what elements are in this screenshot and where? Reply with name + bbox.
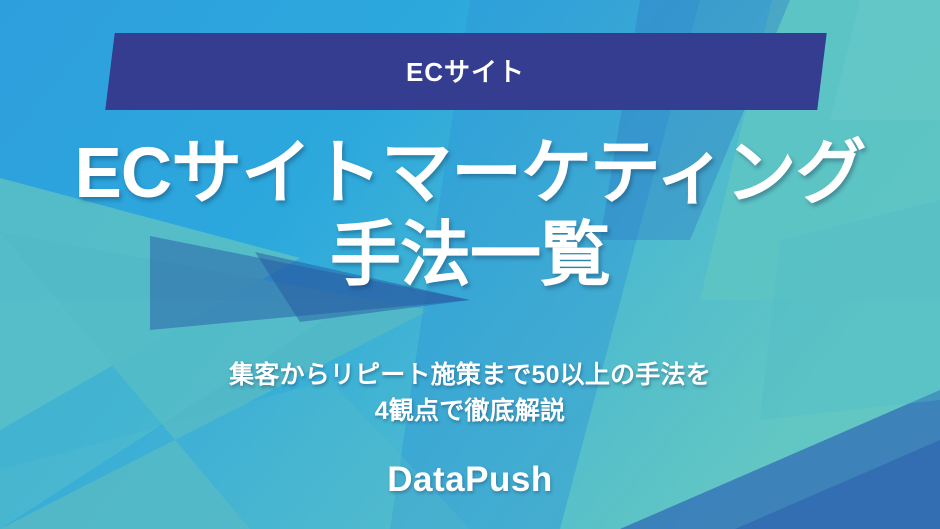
title-line-2: 手法一覧 — [0, 215, 940, 297]
title-slide: ECサイト ECサイトマーケティング 手法一覧 集客からリピート施策まで50以上… — [0, 0, 940, 529]
brand-logo: DataPush — [0, 462, 940, 497]
category-banner: ECサイト — [105, 33, 826, 110]
brand-logo-text: DataPush — [387, 460, 552, 499]
subtitle-line-2: 4観点で徹底解説 — [0, 393, 940, 429]
page-title: ECサイトマーケティング 手法一覧 — [0, 133, 940, 298]
category-banner-label: ECサイト — [406, 59, 525, 85]
page-subtitle: 集客からリピート施策まで50以上の手法を 4観点で徹底解説 — [0, 357, 940, 430]
title-line-1: ECサイトマーケティング — [0, 133, 940, 215]
subtitle-line-1: 集客からリピート施策まで50以上の手法を — [0, 357, 940, 393]
slide-content: ECサイト ECサイトマーケティング 手法一覧 集客からリピート施策まで50以上… — [0, 0, 940, 529]
